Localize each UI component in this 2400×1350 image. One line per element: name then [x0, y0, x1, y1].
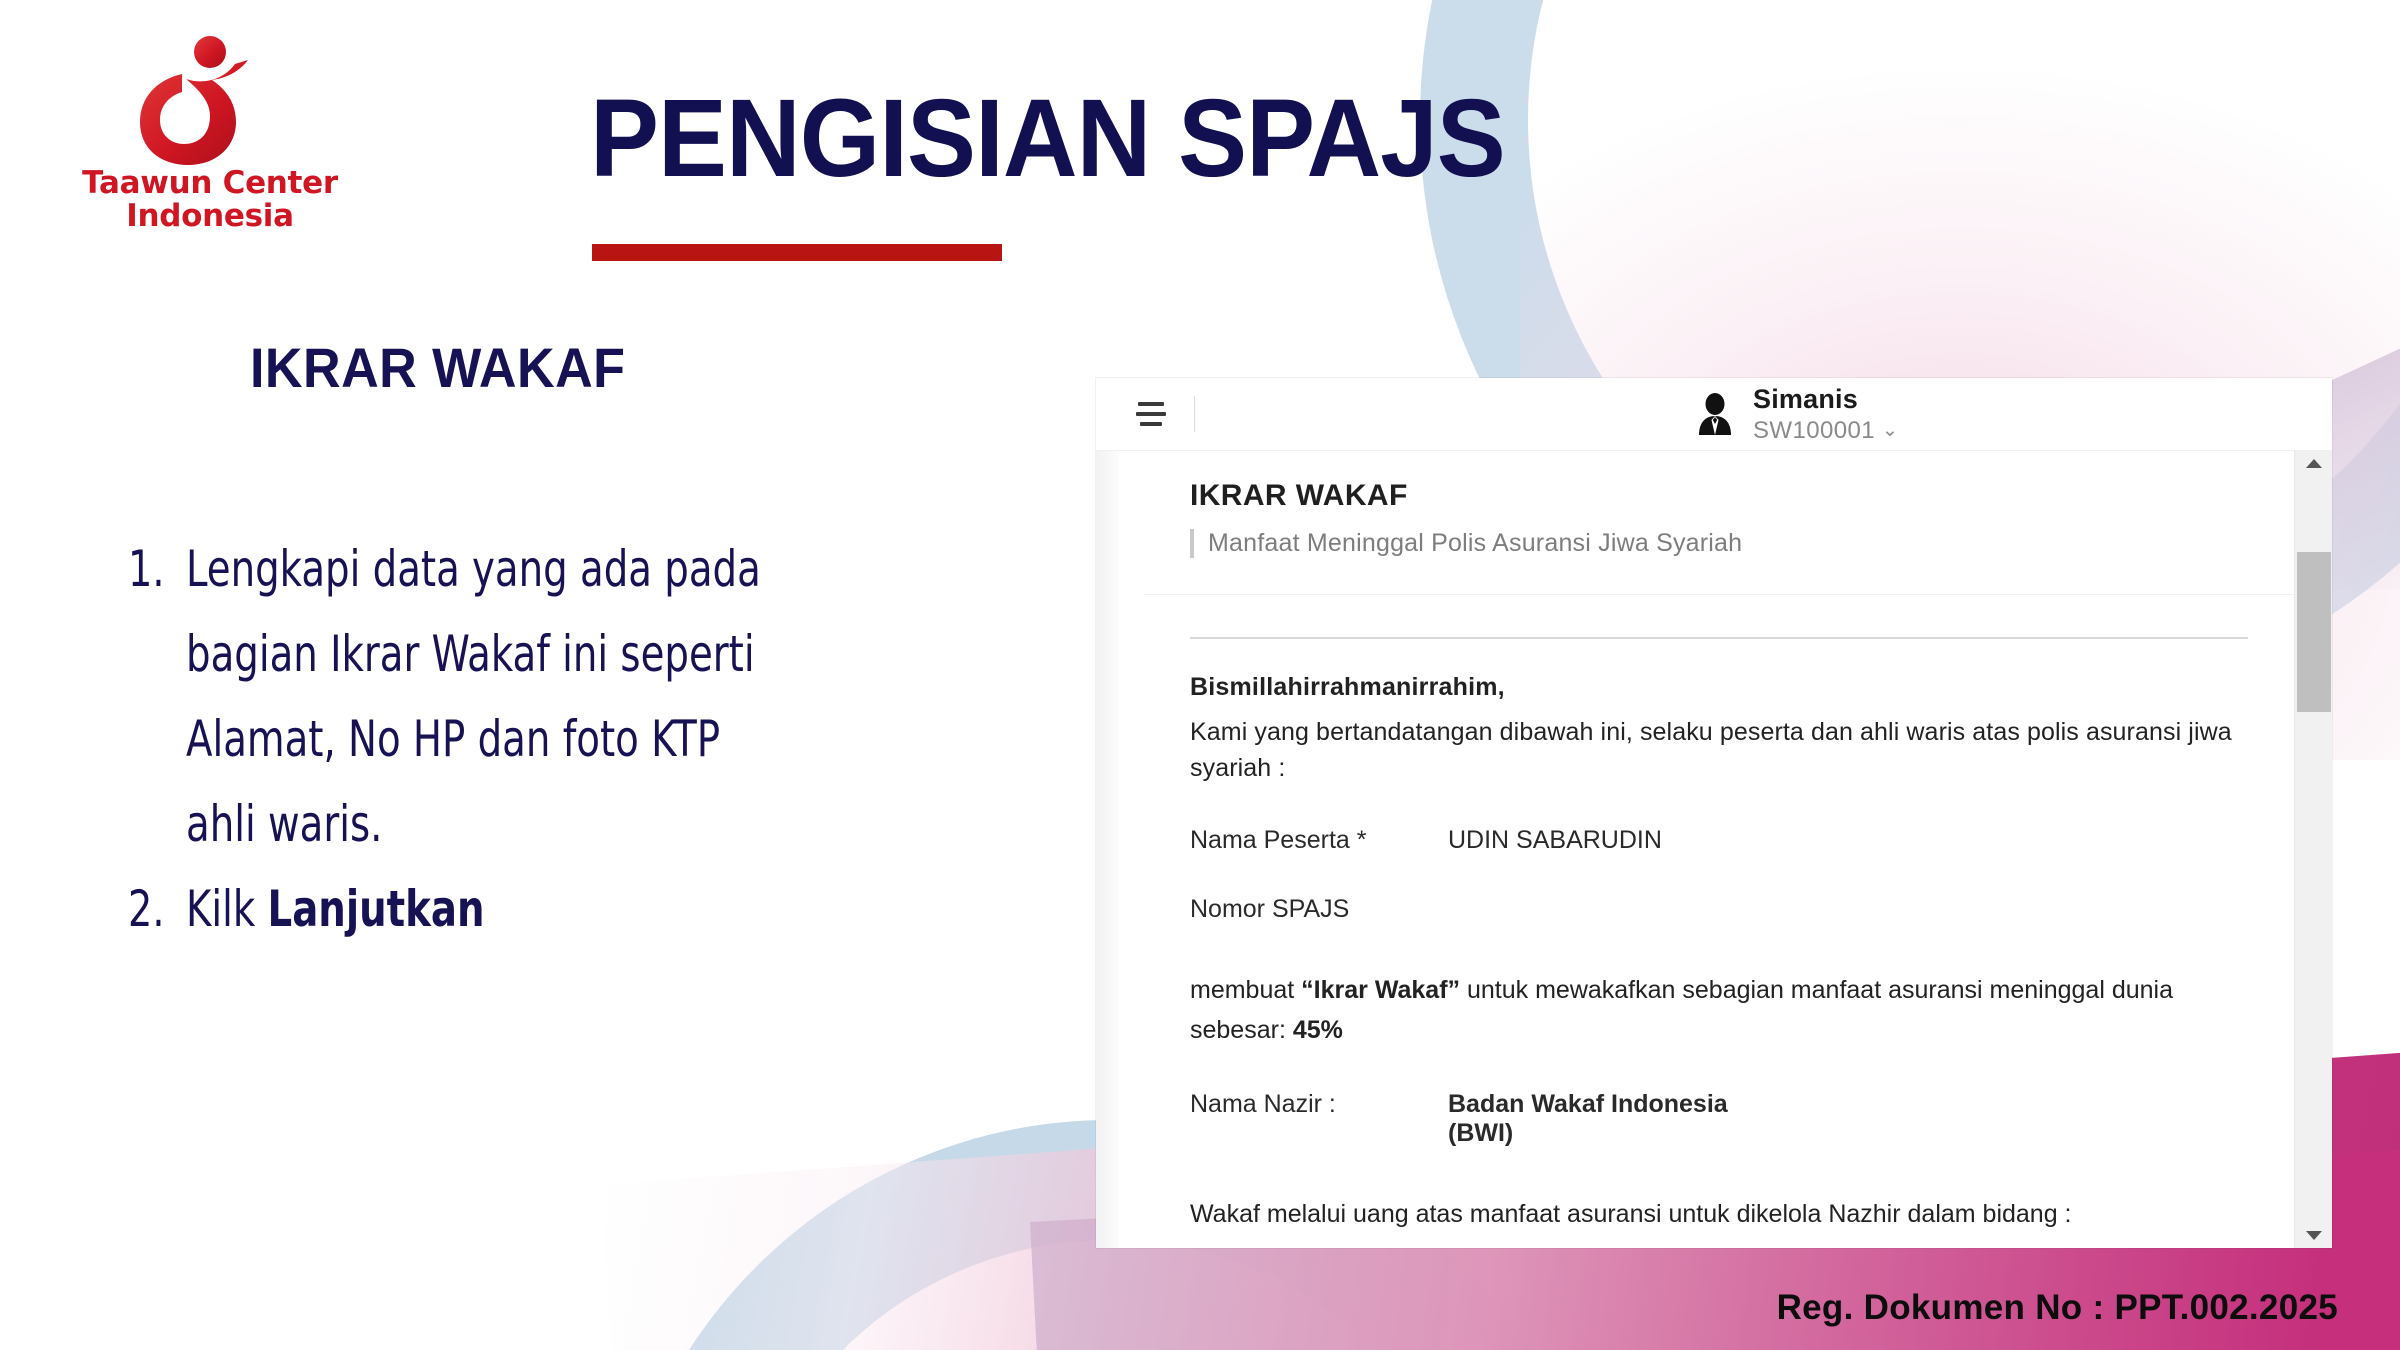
section-subheading: IKRAR WAKAF: [250, 335, 625, 400]
scrollbar-track[interactable]: [2295, 468, 2332, 1231]
list-item-number: 2.: [128, 867, 177, 952]
list-item-number: 1.: [128, 527, 177, 612]
field-label: Nama Peserta *: [1190, 826, 1448, 855]
footer-registration-number: Reg. Dokumen No : PPT.002.2025: [1777, 1288, 2338, 1328]
user-menu[interactable]: Simanis SW100001 ⌄: [1695, 384, 1898, 445]
card-divider: [1144, 594, 2294, 595]
user-name: Simanis: [1753, 384, 1898, 415]
scroll-down-arrow-icon[interactable]: [2306, 1231, 2322, 1240]
form-content-area: IKRAR WAKAF Manfaat Meninggal Polis Asur…: [1144, 451, 2294, 1248]
slide-root: Taawun Center Indonesia PENGISIAN SPAJS …: [0, 0, 2400, 1350]
list-item-text-bold: Lanjutkan: [268, 880, 485, 938]
field-label: Nomor SPAJS: [1190, 895, 1448, 924]
user-id: SW100001 ⌄: [1753, 417, 1898, 445]
field-nama-nazir: Nama Nazir : Badan Wakaf Indonesia (BWI): [1190, 1090, 2248, 1148]
pernyataan-quote: “Ikrar Wakaf”: [1301, 976, 1460, 1004]
chevron-down-icon[interactable]: ⌄: [1882, 421, 1898, 440]
intro-text: Kami yang bertandatangan dibawah ini, se…: [1190, 714, 2248, 786]
card-subtitle: Manfaat Meninggal Polis Asuransi Jiwa Sy…: [1190, 529, 2294, 558]
logo-line-1: Taawun Center: [60, 167, 360, 200]
brand-logo: Taawun Center Indonesia: [60, 30, 360, 232]
user-avatar-icon: [1695, 393, 1735, 435]
field-value: Badan Wakaf Indonesia (BWI): [1448, 1090, 1728, 1148]
logo-text: Taawun Center Indonesia: [60, 167, 360, 232]
pernyataan-pre: membuat: [1190, 976, 1301, 1004]
field-nama-peserta: Nama Peserta * UDIN SABARUDIN: [1190, 826, 2248, 855]
sidebar-strip: [1096, 451, 1119, 1248]
nazir-line-1: Badan Wakaf Indonesia: [1448, 1090, 1728, 1118]
app-topbar: Simanis SW100001 ⌄: [1096, 378, 2332, 451]
page-title: PENGISIAN SPAJS: [590, 75, 1505, 202]
list-item-text: Kilk Lanjutkan: [186, 867, 485, 952]
vertical-scrollbar[interactable]: [2294, 451, 2332, 1248]
instruction-list: 1. Lengkapi data yang ada pada bagian Ik…: [128, 527, 1088, 952]
title-underline-rule: [592, 244, 1002, 261]
user-info: Simanis SW100001 ⌄: [1753, 384, 1898, 445]
field-value: UDIN SABARUDIN: [1448, 826, 1662, 855]
topbar-divider: [1194, 396, 1195, 432]
taawun-figure-icon: [60, 30, 360, 165]
card-title: IKRAR WAKAF: [1190, 479, 2294, 513]
user-id-text: SW100001: [1753, 417, 1875, 445]
scrollbar-thumb[interactable]: [2297, 552, 2331, 712]
app-body: IKRAR WAKAF Manfaat Meninggal Polis Asur…: [1096, 451, 2332, 1248]
list-item-text: Lengkapi data yang ada pada bagian Ikrar…: [186, 527, 761, 867]
logo-line-2: Indonesia: [60, 200, 360, 233]
card-header: IKRAR WAKAF Manfaat Meninggal Polis Asur…: [1144, 451, 2294, 558]
sidebar-strip-inner: [1119, 451, 1144, 1248]
nazir-line-2: (BWI): [1448, 1119, 1513, 1147]
app-screenshot-window: Simanis SW100001 ⌄ IKRAR WAKAF Manfaat M…: [1096, 378, 2332, 1248]
scroll-up-arrow-icon[interactable]: [2306, 459, 2322, 468]
pernyataan-wakaf-text: membuat “Ikrar Wakaf” untuk mewakafkan s…: [1190, 970, 2248, 1050]
basmalah-text: Bismillahirrahmanirrahim,: [1190, 673, 2248, 702]
field-label: Nama Nazir :: [1190, 1090, 1448, 1148]
persentase-wakaf: 45%: [1293, 1016, 1343, 1044]
list-item: 1. Lengkapi data yang ada pada bagian Ik…: [128, 527, 1088, 867]
field-nomor-spajs: Nomor SPAJS: [1190, 895, 2248, 924]
list-item: 2. Kilk Lanjutkan: [128, 867, 1088, 952]
hamburger-menu-icon[interactable]: [1136, 402, 1166, 426]
list-item-text-plain: Kilk: [186, 880, 268, 938]
bidang-intro-text: Wakaf melalui uang atas manfaat asuransi…: [1190, 1194, 2248, 1234]
ikrar-wakaf-form: Bismillahirrahmanirrahim, Kami yang bert…: [1144, 639, 2294, 1248]
